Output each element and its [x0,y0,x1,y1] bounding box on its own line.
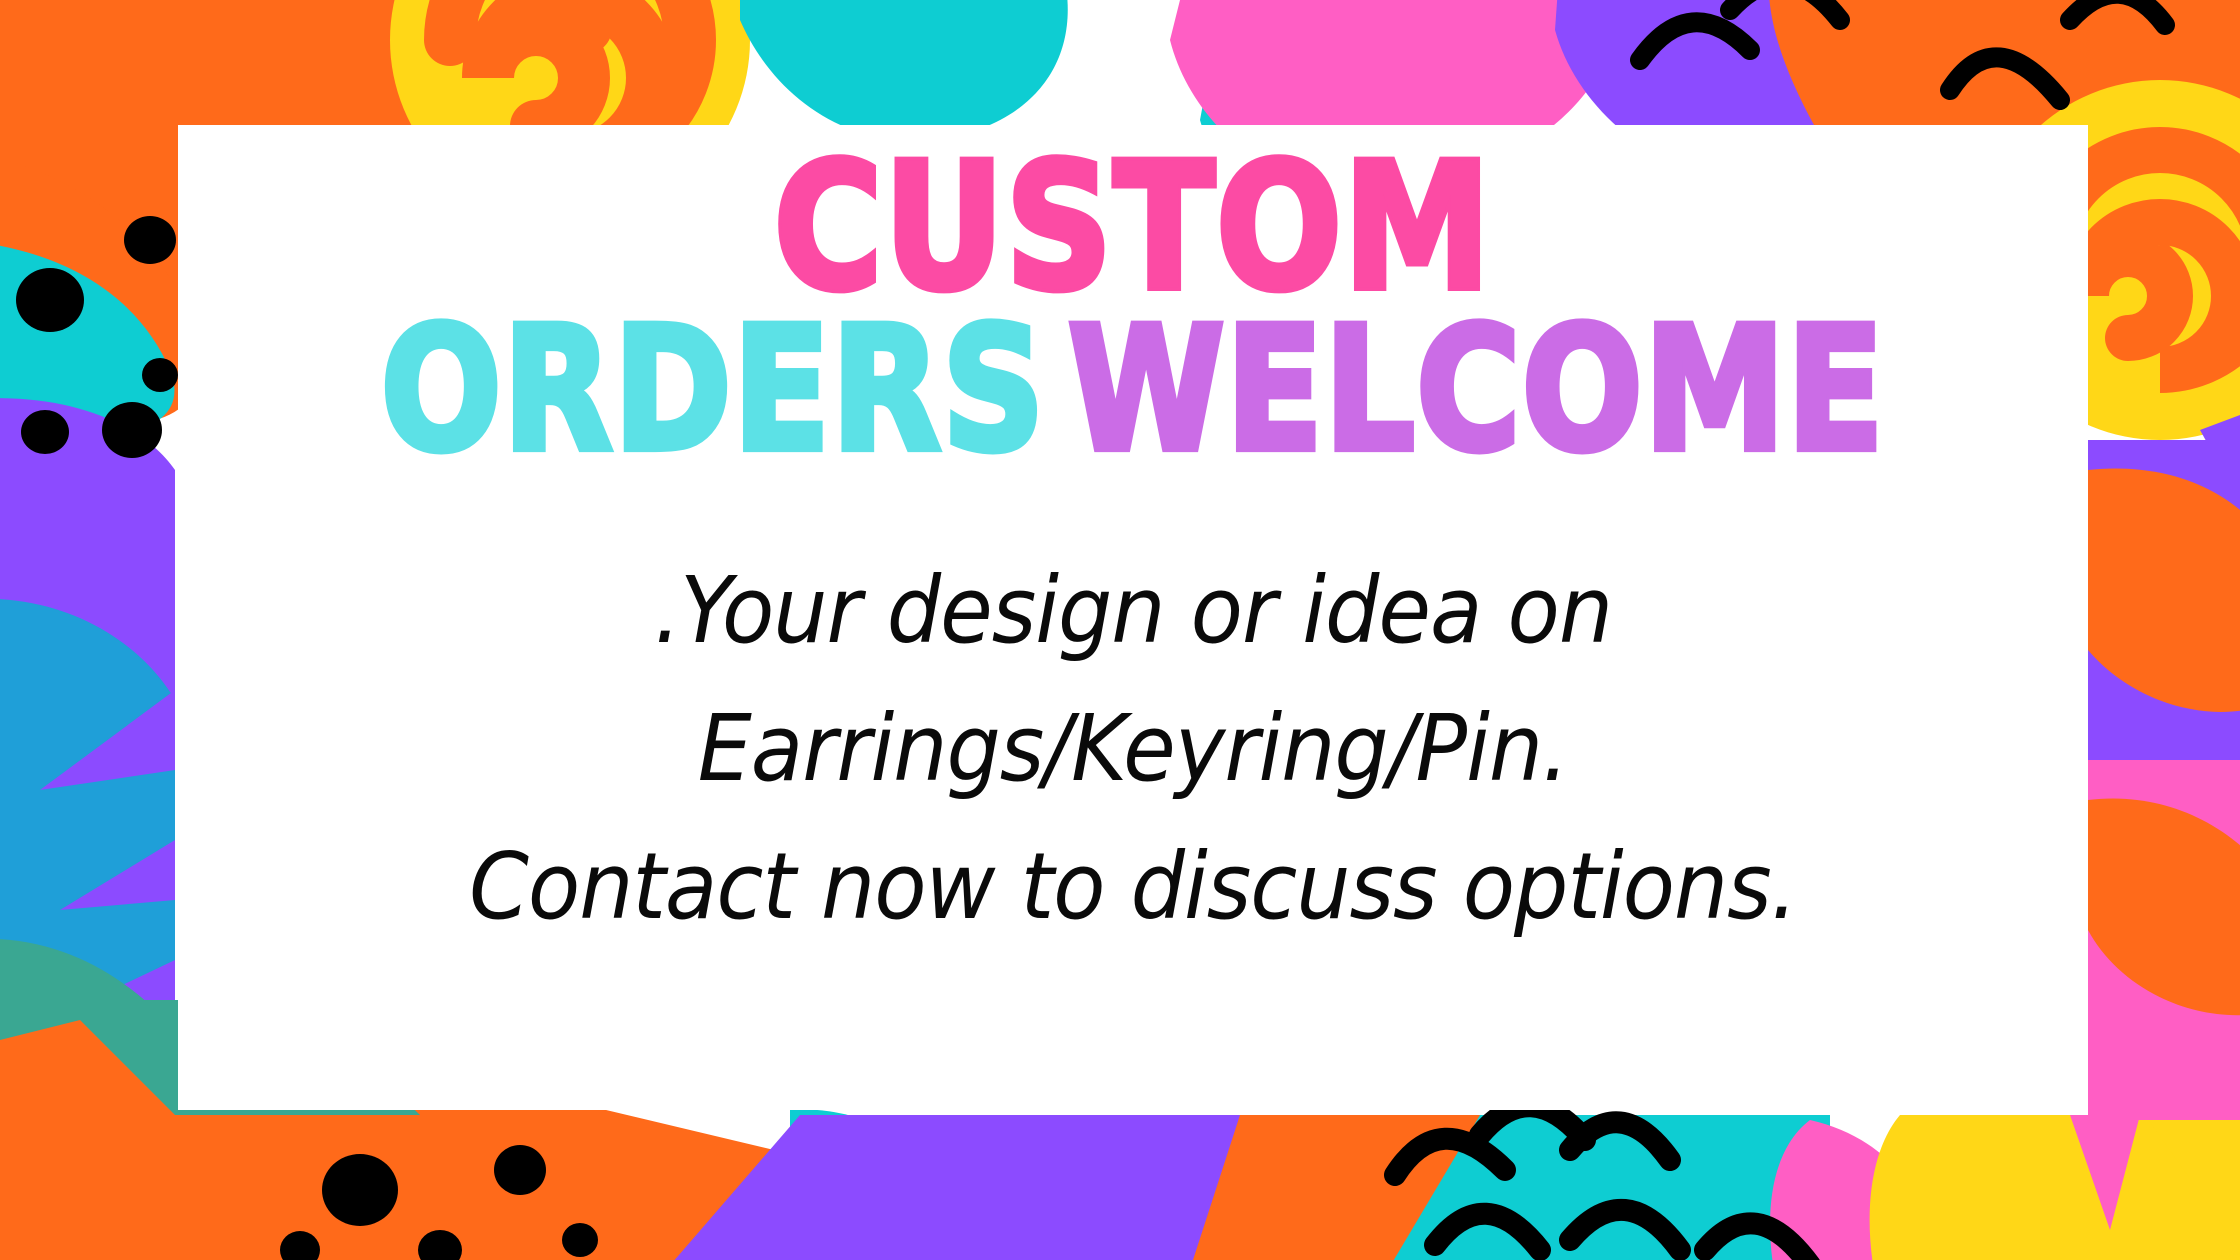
headline-welcome: WELCOME [1068,313,1885,470]
body-copy: .Your design or idea on Earrings/Keyring… [178,542,2088,956]
headline-custom: CUSTOM [774,147,1492,308]
headline-line2: ORDERS WELCOME [381,339,1885,470]
headline-orders: ORDERS [381,313,1046,470]
poster-canvas: CUSTOM ORDERS WELCOME .Your design or id… [0,0,2240,1260]
body-copy-line-2: Contact now to discuss options. [245,818,2021,956]
content-card: CUSTOM ORDERS WELCOME .Your design or id… [178,125,2088,1110]
body-copy-line-1: .Your design or idea on Earrings/Keyring… [245,542,2021,818]
